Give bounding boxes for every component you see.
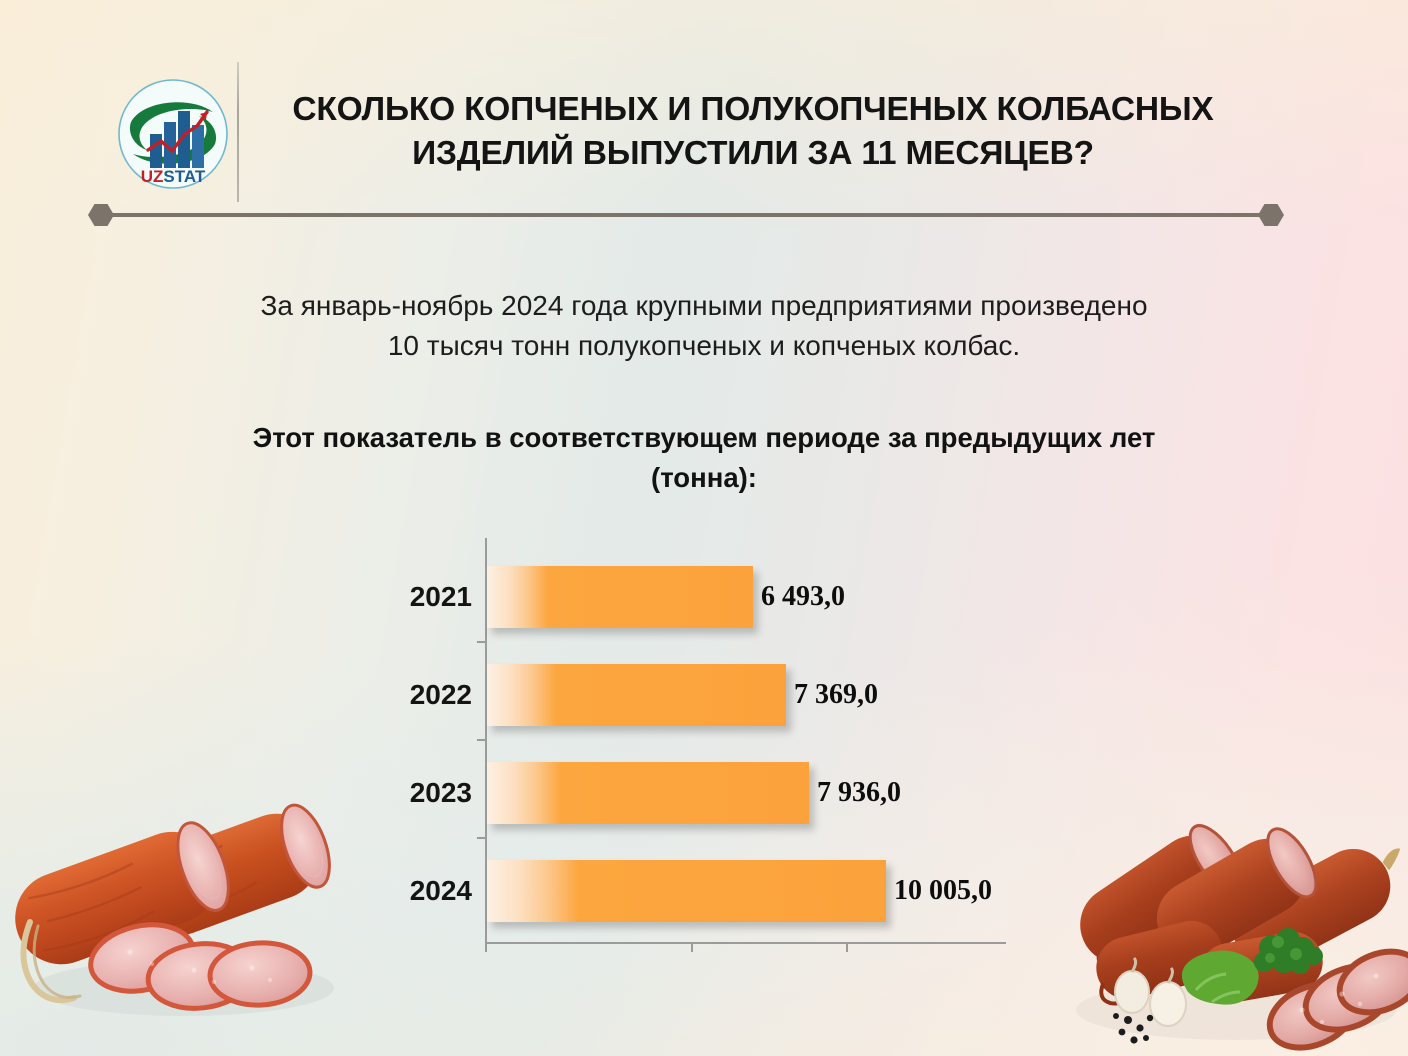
bar-value-label: 6 493,0 <box>761 566 845 628</box>
page-title-line-2: ИЗДЕЛИЙ ВЫПУСТИЛИ ЗА 11 МЕСЯЦЕВ? <box>248 132 1258 176</box>
chart-subheading-line-1: Этот показатель в соответствующем период… <box>154 418 1254 458</box>
bar-2022 <box>487 664 786 726</box>
rule-line <box>102 213 1272 217</box>
bar-2023 <box>487 762 809 824</box>
bar-value-label: 10 005,0 <box>894 860 992 922</box>
page-title-line-1: СКОЛЬКО КОПЧЕНЫХ И ПОЛУКОПЧЕНЫХ КОЛБАСНЫ… <box>248 88 1258 132</box>
x-axis-tick <box>846 942 848 952</box>
bar-category-label: 2024 <box>380 860 472 922</box>
lead-line-1: За январь-ноябрь 2024 года крупными пред… <box>154 286 1254 326</box>
page-title: СКОЛЬКО КОПЧЕНЫХ И ПОЛУКОПЧЕНЫХ КОЛБАСНЫ… <box>248 88 1258 175</box>
y-axis-tick <box>477 837 486 839</box>
header-vertical-divider <box>237 62 239 202</box>
rule-end-cap-right-icon <box>1258 204 1284 226</box>
salami-logs-and-slices-photo <box>0 726 390 1044</box>
header-divider-rule <box>88 204 1284 226</box>
x-axis-tick <box>691 942 693 952</box>
smoked-sausages-with-garlic-and-herbs-photo <box>1036 766 1408 1056</box>
bar-category-label: 2021 <box>380 566 472 628</box>
bar-value-label: 7 369,0 <box>794 664 878 726</box>
y-axis-tick <box>477 739 486 741</box>
uzstat-logo: UZSTAT <box>117 78 229 190</box>
y-axis-tick <box>477 641 486 643</box>
x-axis-tick <box>485 942 487 952</box>
infographic-page: UZSTAT СКОЛЬКО КОПЧЕНЫХ И ПОЛУКОПЧЕНЫХ К… <box>0 0 1408 1056</box>
lead-paragraph: За январь-ноябрь 2024 года крупными пред… <box>154 286 1254 366</box>
lead-line-2: 10 тысяч тонн полукопченых и копченых ко… <box>154 326 1254 366</box>
bar-category-label: 2022 <box>380 664 472 726</box>
bar-value-label: 7 936,0 <box>817 762 901 824</box>
bar-category-label: 2023 <box>380 762 472 824</box>
svg-text:UZSTAT: UZSTAT <box>141 167 206 186</box>
bar-chart: 2021 6 493,0 2022 7 369,0 2023 7 936,0 2… <box>380 534 1030 964</box>
chart-x-axis <box>485 942 1006 944</box>
chart-subheading-line-2: (тонна): <box>154 458 1254 498</box>
bar-2024 <box>487 860 886 922</box>
chart-subheading: Этот показатель в соответствующем период… <box>154 418 1254 498</box>
bar-2021 <box>487 566 753 628</box>
